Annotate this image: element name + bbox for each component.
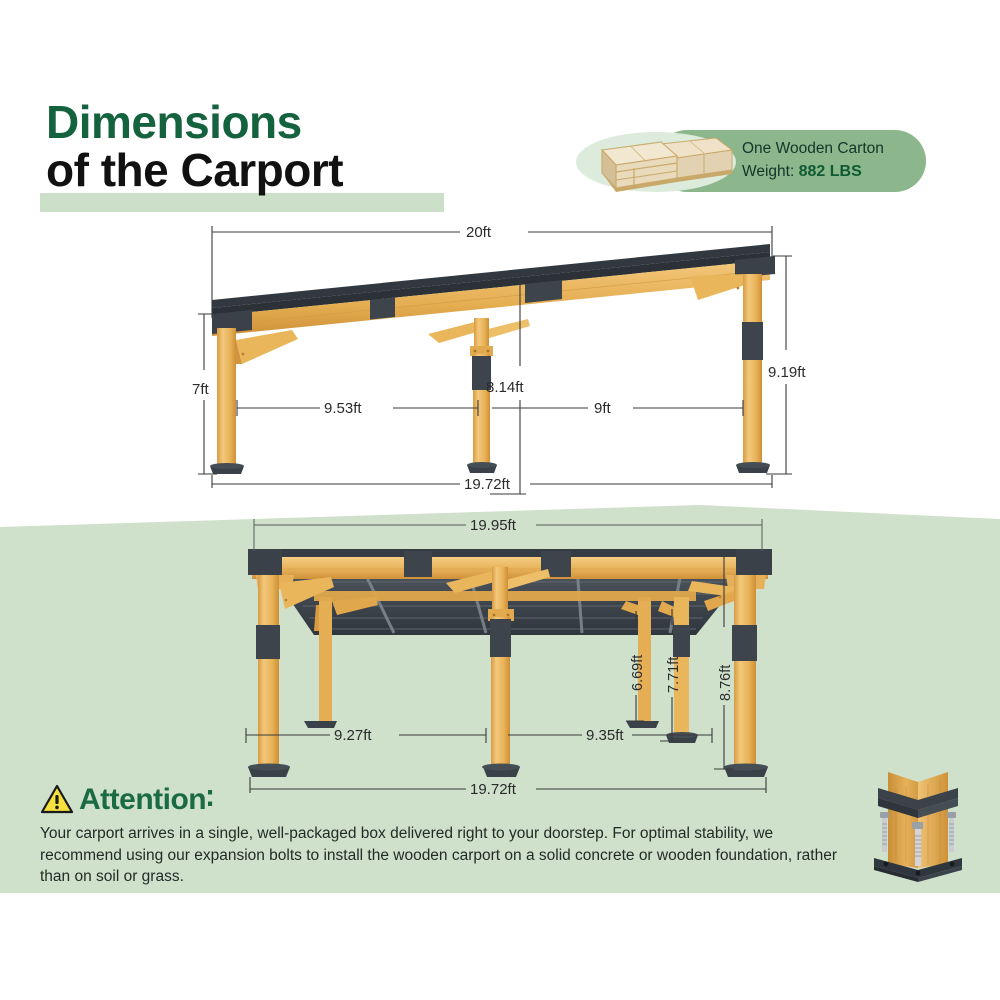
- attention-title: Attention∶: [79, 782, 213, 817]
- dim-front-mid-post: 7.71ft: [666, 657, 682, 693]
- badge-line-1: One Wooden Carton: [742, 137, 928, 160]
- dim-side-inner-left: 9.53ft: [324, 400, 362, 417]
- page-title-line-1: Dimensions: [46, 98, 516, 146]
- badge-weight-value: 882 LBS: [799, 163, 862, 180]
- attention-notice: Attention∶ Your carport arrives in a sin…: [40, 780, 870, 888]
- dim-front-inner-right: 9.35ft: [586, 727, 624, 744]
- page-title: Dimensions of the Carport: [46, 98, 516, 194]
- badge-text: One Wooden Carton Weight: 882 LBS: [742, 137, 928, 183]
- attention-header: Attention∶: [40, 780, 870, 818]
- dim-side-center: 8.14ft: [486, 379, 524, 396]
- page-title-line-2: of the Carport: [46, 146, 516, 194]
- side-elevation-drawing: 20ft 7ft 9.53ft 8.14ft 9ft 9.19ft 19.72f…: [190, 222, 815, 492]
- front-perspective-drawing: 19.95ft 9.27ft 6.69ft 7.71ft 9.35ft 8.76…: [196, 505, 808, 795]
- post-base-anchor-bolt-icon: [860, 772, 976, 888]
- warning-triangle-icon: [40, 784, 74, 814]
- carton-weight-badge: One Wooden Carton Weight: 882 LBS: [576, 128, 926, 196]
- wooden-crate-icon: [586, 128, 736, 194]
- dim-side-left: 7ft: [192, 381, 210, 398]
- dim-front-post: 8.76ft: [718, 665, 734, 701]
- dim-side-bottom: 19.72ft: [464, 476, 511, 493]
- dim-side-inner-right: 9ft: [594, 400, 612, 417]
- dim-side-top: 20ft: [466, 224, 492, 241]
- dim-front-top: 19.95ft: [470, 517, 517, 534]
- dim-front-rear-post: 6.69ft: [630, 655, 646, 691]
- badge-weight-label: Weight:: [742, 163, 794, 180]
- dim-side-right: 9.19ft: [768, 364, 806, 381]
- attention-body-text: Your carport arrives in a single, well-p…: [40, 823, 840, 888]
- dim-front-inner-left: 9.27ft: [334, 727, 372, 744]
- badge-line-2: Weight: 882 LBS: [742, 160, 928, 183]
